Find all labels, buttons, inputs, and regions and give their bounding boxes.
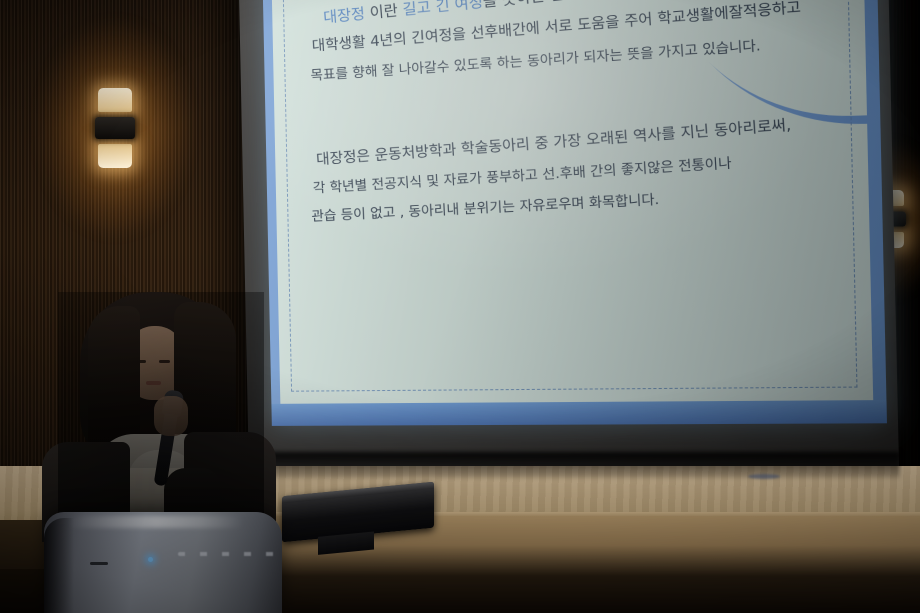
presentation-slide: [ 대장정 이란? ] 대장정 이란 길고 긴 여정을 뜻하는 말입니다. 대학… (262, 0, 887, 426)
highlight-term-b: 길고 긴 여정 (402, 0, 484, 19)
lecture-hall-scene: [ 대장정 이란? ] 대장정 이란 길고 긴 여정을 뜻하는 말입니다. 대학… (0, 0, 920, 613)
presenter (58, 292, 264, 542)
mouth (146, 381, 161, 385)
lectern-button-row[interactable] (178, 552, 274, 556)
plain-text-b: 을 뜻하는 말입니다. (482, 0, 613, 11)
slide-left-border (262, 0, 281, 426)
lectern-highlight (68, 516, 244, 528)
lectern-slot (90, 562, 108, 565)
plain-text-a: 이란 (364, 1, 403, 23)
stage-shadow (230, 452, 900, 478)
eye-right (159, 360, 170, 363)
power-led-indicator (148, 557, 153, 562)
slide-bottom-band (271, 400, 887, 426)
lectern (44, 512, 282, 613)
highlight-term-a: 대장정 (323, 4, 366, 26)
lectern-shadow (44, 518, 74, 613)
slide-paragraph-2: 대장정은 운동처방학과 학술동아리 중 가장 오래된 역사를 지닌 동아리로써,… (324, 137, 882, 224)
hand (154, 396, 188, 436)
floor-marking (748, 474, 780, 479)
projection-screen-frame: [ 대장정 이란? ] 대장정 이란 길고 긴 여정을 뜻하는 말입니다. 대학… (239, 0, 900, 485)
